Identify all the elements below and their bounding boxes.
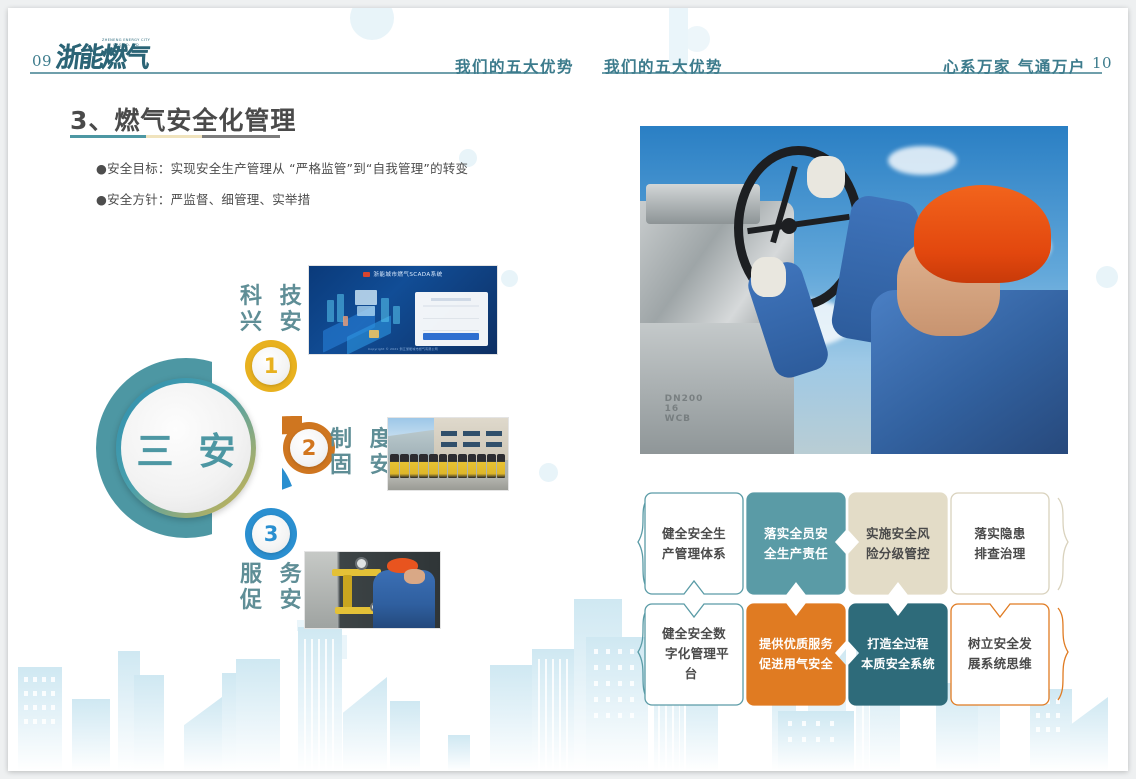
scada-footer: Copyright © 2021 浙江浙能城市燃气有限公司 xyxy=(309,347,497,351)
flow-box-r1c4[interactable]: 落实隐患 排查治理 xyxy=(950,492,1050,596)
branch-1-label: 科 技 兴 安 xyxy=(240,284,307,336)
scada-password-field[interactable] xyxy=(423,324,479,331)
company-slogan: 心系万家 气通万户 xyxy=(943,55,1086,77)
flow-box-r2c3-line2: 本质安全系统 xyxy=(855,657,941,671)
photo-scada-system: 浙能城市燃气SCADA系统 Copyright © 2021 浙江浙能城市燃气有… xyxy=(308,265,498,355)
bracket-right-row1 xyxy=(1056,496,1070,592)
worker-glove-lower xyxy=(751,257,785,296)
page-number-right: 10 xyxy=(1092,54,1112,72)
flow-box-r1c2-line2: 全生产责任 xyxy=(758,546,834,561)
scada-username-field[interactable] xyxy=(423,312,479,319)
flow-box-r1c4-line1: 落实隐患 xyxy=(968,526,1031,541)
fleet-scooter-row xyxy=(390,454,505,478)
flow-box-r1c2[interactable]: 落实全员安 全生产责任 xyxy=(746,492,846,596)
safety-measures-flowchart: 健全安全生 产管理体系 落实全员安 全生产责任 实施安全风 险分级管控 xyxy=(644,492,1064,708)
bracket-right-row2 xyxy=(1056,606,1070,702)
section-title-left: 我们的五大优势 xyxy=(455,55,574,77)
flow-box-r1c1-line2: 产管理体系 xyxy=(656,546,732,561)
flow-box-r2c4-line2: 展系统思维 xyxy=(962,656,1038,671)
photo-gas-facility-inspection xyxy=(304,551,441,629)
branch-1-label-line2: 兴 安 xyxy=(240,310,307,336)
scada-login-card xyxy=(415,292,488,346)
flow-box-r2c1-line1: 健全安全数 xyxy=(656,626,732,641)
scada-login-heading xyxy=(431,298,471,301)
branch-3-label-line2: 促 安 xyxy=(240,588,307,614)
branch-3-number-node[interactable]: 3 xyxy=(252,515,290,553)
scada-login-button[interactable] xyxy=(423,333,479,340)
flow-box-r2c4-line1: 树立安全发 xyxy=(962,636,1038,651)
logo-chinese-text: 浙能燃气 xyxy=(54,43,150,72)
page-header: 09 ZHENENG ENERGY CITY GAS CO. LTD 浙能燃气 … xyxy=(8,8,1128,84)
handwheel-hub xyxy=(781,218,797,234)
branch-1-number: 1 xyxy=(264,354,279,378)
branch-1-number-node[interactable]: 1 xyxy=(252,347,290,385)
flow-box-r2c2[interactable]: 提供优质服务 促进用气安全 xyxy=(746,602,846,706)
worker-safety-helmet xyxy=(914,185,1051,283)
flow-box-r2c3-line1: 打造全过程 xyxy=(861,637,935,651)
fleet-ground xyxy=(388,478,508,490)
bullet-item-1: ●安全目标：实现安全生产管理从 “严格监管”到“自我管理”的转变 xyxy=(96,158,468,177)
branch-3-label-line1: 服 务 xyxy=(240,562,307,588)
inspection-worker-face xyxy=(404,569,426,584)
diagram-center-label: 三 安 xyxy=(131,421,242,475)
inspection-wall xyxy=(305,552,337,628)
branch-2-number: 2 xyxy=(302,436,317,460)
photo-inspection-fleet xyxy=(387,417,509,491)
flow-box-r2c2-line2: 促进用气安全 xyxy=(753,657,839,671)
slide-page: 09 ZHENENG ENERGY CITY GAS CO. LTD 浙能燃气 … xyxy=(8,8,1128,771)
branch-3-number: 3 xyxy=(264,522,279,546)
scada-title: 浙能城市燃气SCADA系统 xyxy=(309,270,497,278)
flow-box-r1c1[interactable]: 健全安全生 产管理体系 xyxy=(644,492,744,596)
three-safety-diagram: 三 安 xyxy=(96,358,276,538)
scada-logo-icon xyxy=(363,272,370,277)
section-title-right: 我们的五大优势 xyxy=(604,55,723,77)
bullet-item-2: ●安全方针：严监督、细管理、实举措 xyxy=(96,189,310,208)
scada-illustration xyxy=(317,288,409,348)
flow-box-r2c3[interactable]: 打造全过程 本质安全系统 xyxy=(848,602,948,706)
flow-box-r1c3-line1: 实施安全风 xyxy=(860,526,936,541)
flow-box-r1c3[interactable]: 实施安全风 险分级管控 xyxy=(848,492,948,596)
inspection-gauge-icon xyxy=(355,557,368,570)
inspection-pipe-horizontal xyxy=(332,569,381,577)
branch-3-label: 服 务 促 安 xyxy=(240,562,307,614)
flow-box-r2c4[interactable]: 树立安全发 展系统思维 xyxy=(950,602,1050,706)
flow-box-r1c2-line1: 落实全员安 xyxy=(758,526,834,541)
flow-box-r1c1-line1: 健全安全生 xyxy=(656,526,732,541)
company-logo: ZHENENG ENERGY CITY GAS CO. LTD 浙能燃气 xyxy=(56,38,154,72)
flow-box-r1c3-line2: 险分级管控 xyxy=(860,546,936,561)
branch-2-number-node[interactable]: 2 xyxy=(290,429,328,467)
worker-glove-upper xyxy=(807,156,846,199)
diagram-center-circle: 三 安 xyxy=(121,383,251,513)
flow-box-r2c1-line2: 字化管理平台 xyxy=(659,646,729,681)
flow-box-r2c1[interactable]: 健全安全数 字化管理平台 xyxy=(644,602,744,706)
photo-valve-operation: DN20016WCB xyxy=(640,126,1068,454)
scada-login-subheading xyxy=(423,305,479,307)
page-number-left: 09 xyxy=(32,52,52,70)
inspection-pipe-vertical xyxy=(343,575,352,611)
page-title: 3、燃气安全化管理 xyxy=(70,101,296,137)
valve-marking-text: DN20016WCB xyxy=(665,394,704,424)
branch-1-label-line1: 科 技 xyxy=(240,284,307,310)
flow-box-r2c2-line1: 提供优质服务 xyxy=(753,637,839,651)
title-underline xyxy=(70,135,280,138)
flow-box-r1c4-line2: 排查治理 xyxy=(968,546,1031,561)
